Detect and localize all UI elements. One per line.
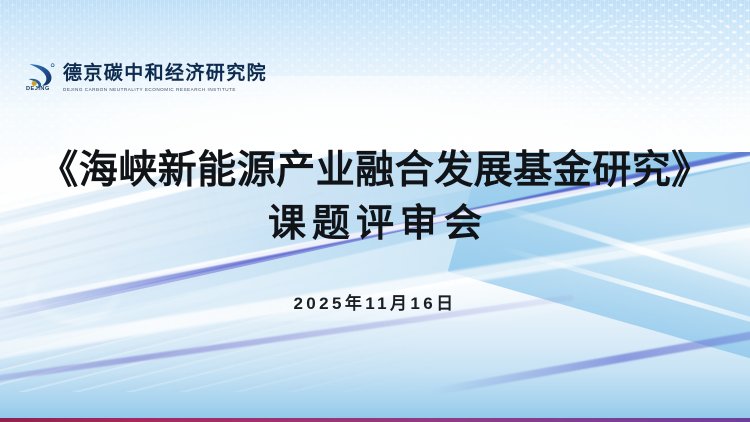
bottom-accent-rule [0,418,750,422]
brand-lockup: DEJING 德京碳中和经济研究院 DEJING CARBON NEUTRALI… [24,61,267,95]
slide-title-secondary: 课题评审会 [0,200,750,249]
brand-name-cn: 德京碳中和经济研究院 [63,64,267,84]
brand-name-column: 德京碳中和经济研究院 DEJING CARBON NEUTRALITY ECON… [63,64,267,92]
title-block: 《海峡新能源产业融合发展基金研究》 课题评审会 [0,146,750,249]
brand-pinyin-wordmark: DEJING [26,86,50,92]
dejing-swoosh-logo-mark: DEJING [24,61,56,95]
brand-name-en: DEJING CARBON NEUTRALITY ECONOMIC RESEAR… [63,87,267,93]
event-date: 2025年11月16日 [0,289,750,314]
slide-title-primary: 《海峡新能源产业融合发展基金研究》 [0,146,750,196]
title-slide: DEJING 德京碳中和经济研究院 DEJING CARBON NEUTRALI… [0,0,750,422]
